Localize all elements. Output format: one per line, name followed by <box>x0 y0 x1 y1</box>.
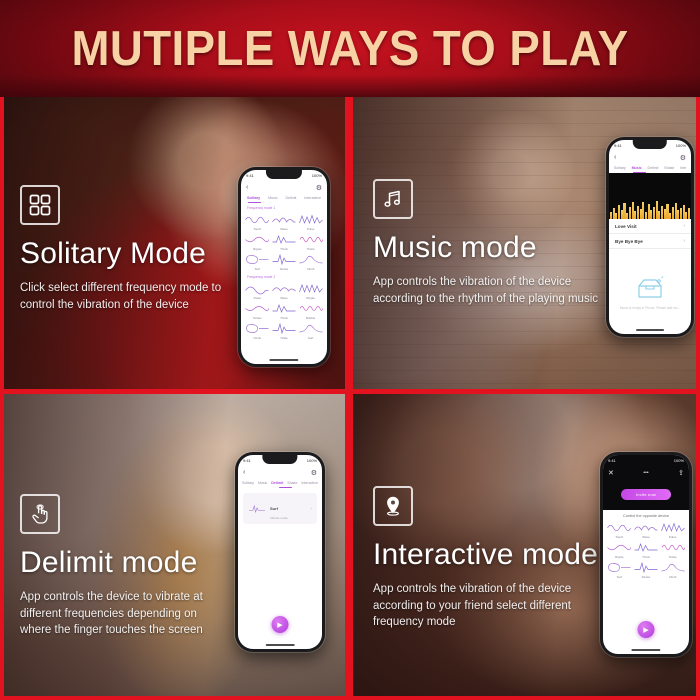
mode-caption: Throb <box>280 247 288 251</box>
mode-cell[interactable]: Throb <box>271 302 298 320</box>
chevron-right-icon: › <box>310 506 312 512</box>
mode-caption: Touch <box>253 227 261 231</box>
mode-caption: Pulse <box>254 296 262 300</box>
gear-icon[interactable]: ⚙ <box>311 469 317 477</box>
phone-solitary: 9:41 100% ‹ ⚙ Solitary Music Delimit Int… <box>238 167 330 367</box>
back-icon[interactable]: ‹ <box>243 469 245 476</box>
mode-cell[interactable]: Tickle <box>659 541 686 559</box>
phone-screen-interactive: 9:41 100% ✕ ••• ⇪ Invite now Control the… <box>603 455 689 654</box>
invite-now-button[interactable]: Invite now <box>621 489 671 500</box>
list-item-title: Surf <box>270 506 278 511</box>
mode-caption: Climb <box>307 267 315 271</box>
right-edge-border <box>696 97 700 700</box>
mode-cell[interactable]: Climb <box>659 561 686 579</box>
status-time: 9:41 <box>608 458 616 463</box>
mode-desc-solitary: Click select different frequency mode to… <box>20 280 225 313</box>
mode-caption: Climb <box>253 336 261 340</box>
song-row[interactable]: Bye Bye Bye › <box>609 234 691 249</box>
tab-interactive[interactable]: Interactive <box>301 481 318 485</box>
mode-caption: Climb <box>669 575 677 579</box>
tab-music[interactable]: Music <box>632 166 642 170</box>
mode-grid-1: Touch Wave Pulse Ripple Throb Tickle Sur… <box>241 212 327 272</box>
gear-icon[interactable]: ⚙ <box>680 154 686 162</box>
interactive-top-section: 9:41 100% ✕ ••• ⇪ Invite now <box>603 455 689 510</box>
tab-delimit[interactable]: Delimit <box>647 166 658 170</box>
tab-solitary[interactable]: Solitary <box>614 166 626 170</box>
mode-cell[interactable]: Climb <box>297 253 324 271</box>
tab-bar-delimit: Solitary Music Delimit Shake Interactive <box>238 479 322 488</box>
bottom-edge-border <box>0 696 700 700</box>
play-icon[interactable]: ▶ <box>272 616 289 633</box>
status-time: 9:41 <box>246 173 254 178</box>
tab-solitary[interactable]: Solitary <box>247 196 260 200</box>
status-time: 9:41 <box>614 143 622 148</box>
mode-caption: Pulse <box>307 227 315 231</box>
mode-cell[interactable]: Wave <box>271 213 298 231</box>
status-bar: 9:41 100% <box>238 455 322 466</box>
mode-caption: Pulse <box>669 535 677 539</box>
mode-caption: Throb <box>642 555 650 559</box>
mode-cell[interactable]: Ripple <box>606 541 633 559</box>
song-title: Love Visit <box>615 224 637 229</box>
mode-cell[interactable]: Throb <box>271 233 298 251</box>
list-item-subtitle: Vibrate mode <box>270 516 306 520</box>
tab-delimit[interactable]: Delimit <box>271 481 283 485</box>
tab-interactive[interactable]: Inte <box>680 166 686 170</box>
phone-nav-row: ‹ ⚙ <box>241 181 327 194</box>
music-note-icon <box>373 179 413 219</box>
header-banner: MUTIPLE WAYS TO PLAY <box>0 0 700 97</box>
mode-caption: Stroke <box>280 267 289 271</box>
mode-caption: Wave <box>280 227 288 231</box>
tab-music[interactable]: Music <box>258 481 267 485</box>
mode-caption: Surf <box>308 336 314 340</box>
phone-music: 9:41 100% ‹ ⚙ Solitary Music Delimit Sha… <box>606 137 694 337</box>
mode-cell[interactable]: Surf <box>244 253 271 271</box>
mode-cell[interactable]: Wave <box>271 282 298 300</box>
panel-interactive: Interactive mode App controls the vibrat… <box>353 394 700 700</box>
chevron-right-icon: › <box>683 238 685 244</box>
back-icon[interactable]: ‹ <box>614 154 616 161</box>
mode-caption: Ripple <box>253 247 262 251</box>
empty-box-icon <box>635 275 665 301</box>
empty-state-text: Music is empty in Phone. Please add mu..… <box>612 306 688 310</box>
mode-cell[interactable]: Stroke <box>244 302 271 320</box>
mode-cell[interactable]: Touch <box>606 521 633 539</box>
tab-delimit[interactable]: Delimit <box>285 196 296 200</box>
mode-caption: Stroke <box>253 316 262 320</box>
panel-solitary: Solitary Mode Click select different fre… <box>0 97 345 389</box>
spectrum-bars <box>609 173 691 219</box>
share-icon[interactable]: ⇪ <box>678 469 684 477</box>
mode-desc-music: App controls the vibration of the device… <box>373 274 598 307</box>
waveform-icon <box>248 504 266 514</box>
panel-grid: Solitary Mode Click select different fre… <box>0 97 700 700</box>
grid-2x2-icon <box>20 185 60 225</box>
mode-cell[interactable]: Stroke <box>271 253 298 271</box>
mode-cell[interactable]: Pulse <box>659 521 686 539</box>
location-pin-icon <box>373 486 413 526</box>
horizontal-divider <box>0 389 700 394</box>
tab-indicator <box>279 487 292 488</box>
status-bar: 9:41 100% <box>603 455 689 466</box>
song-row[interactable]: Love Visit › <box>609 219 691 234</box>
tab-shake[interactable]: Shake <box>664 166 674 170</box>
touch-hand-icon <box>20 494 60 534</box>
section-label-2: Frequency mode 2 <box>241 272 327 281</box>
mode-cell[interactable]: Pulse <box>244 282 271 300</box>
mode-caption: Ripple <box>615 555 624 559</box>
panel-music: Music mode App controls the vibration of… <box>353 97 700 389</box>
phone-screen-delimit: 9:41 100% ‹ ⚙ Solitary Music Delimit Sha… <box>238 455 322 649</box>
mode-caption: Tickle <box>669 555 677 559</box>
tab-indicator <box>248 202 261 203</box>
mode-caption: Tickle <box>280 336 288 340</box>
mode-cell[interactable]: Tickle <box>297 233 324 251</box>
mode-caption: Stroke <box>642 575 651 579</box>
list-item[interactable]: Surf Vibrate mode › <box>243 493 317 524</box>
status-battery: 100% <box>307 458 317 463</box>
phone-nav-row: ✕ ••• ⇪ <box>603 466 689 479</box>
tab-solitary[interactable]: Solitary <box>242 481 254 485</box>
home-indicator <box>266 644 295 646</box>
phone-interactive: 9:41 100% ✕ ••• ⇪ Invite now Control the… <box>600 452 692 657</box>
status-battery: 100% <box>312 173 322 178</box>
tab-interactive[interactable]: Interactive <box>304 196 321 200</box>
phone-nav-row: ‹ ⚙ <box>609 151 691 164</box>
status-bar: 9:41 100% <box>241 170 327 181</box>
vertical-divider <box>345 97 353 700</box>
home-indicator <box>269 359 298 361</box>
mode-cell[interactable]: Bubble <box>297 302 324 320</box>
song-title: Bye Bye Bye <box>615 239 643 244</box>
home-indicator <box>636 329 664 331</box>
mode-cell[interactable]: Stroke <box>633 561 660 579</box>
mode-grid-2: Pulse Wave Ripple Stroke Throb Bubble Cl… <box>241 281 327 341</box>
mode-caption: Throb <box>280 316 288 320</box>
mode-caption: Ripple <box>306 296 315 300</box>
tab-music[interactable]: Music <box>268 196 277 200</box>
mode-caption: Touch <box>615 535 623 539</box>
mode-cell[interactable]: Pulse <box>297 213 324 231</box>
tab-bar-solitary: Solitary Music Delimit Interactive <box>241 194 327 203</box>
home-indicator <box>631 649 660 651</box>
mode-caption: Wave <box>280 296 288 300</box>
list-item-text: Surf Vibrate mode <box>270 497 306 520</box>
mode-cell[interactable]: Tickle <box>271 322 298 340</box>
mode-desc-interactive: App controls the vibration of the device… <box>373 581 598 631</box>
close-icon[interactable]: ✕ <box>608 469 614 477</box>
phone-screen-music: 9:41 100% ‹ ⚙ Solitary Music Delimit Sha… <box>609 140 691 334</box>
mode-cell[interactable]: Climb <box>244 322 271 340</box>
tab-shake[interactable]: Shake <box>287 481 297 485</box>
mode-grid-interactive: Touch Wave Pulse Ripple Throb Tickle Sur… <box>603 520 689 580</box>
status-bar: 9:41 100% <box>609 140 691 151</box>
control-label: Control the opposite device <box>603 510 689 520</box>
phone-nav-row: ‹ ⚙ <box>238 466 322 479</box>
status-battery: 100% <box>676 143 686 148</box>
mode-caption: Bubble <box>306 316 315 320</box>
play-icon[interactable]: ▶ <box>638 621 655 638</box>
back-icon[interactable]: ‹ <box>246 184 248 191</box>
mode-cell[interactable]: Throb <box>633 541 660 559</box>
mode-caption: Surf <box>255 267 261 271</box>
empty-state: Music is empty in Phone. Please add mu..… <box>609 249 691 310</box>
mode-cell[interactable]: Touch <box>244 213 271 231</box>
left-edge-border <box>0 97 4 700</box>
status-battery: 100% <box>674 458 684 463</box>
mode-cell[interactable]: Ripple <box>244 233 271 251</box>
mode-caption: Tickle <box>307 247 315 251</box>
mode-caption: Wave <box>642 535 650 539</box>
mode-desc-delimit: App controls the device to vibrate at di… <box>20 589 225 639</box>
phone-screen-solitary: 9:41 100% ‹ ⚙ Solitary Music Delimit Int… <box>241 170 327 364</box>
tab-bar-music: Solitary Music Delimit Shake Inte <box>609 164 691 173</box>
chevron-right-icon: › <box>683 223 685 229</box>
section-label-1: Frequency mode 1 <box>241 203 327 212</box>
gear-icon[interactable]: ⚙ <box>316 184 322 192</box>
status-time: 9:41 <box>243 458 251 463</box>
promo-graphic: MUTIPLE WAYS TO PLAY Solitary Mode Click… <box>0 0 700 700</box>
panel-delimit: Delimit mode App controls the device to … <box>0 394 345 700</box>
mode-cell[interactable]: Surf <box>606 561 633 579</box>
phone-delimit: 9:41 100% ‹ ⚙ Solitary Music Delimit Sha… <box>235 452 325 652</box>
title-dots: ••• <box>643 470 648 476</box>
page-title: MUTIPLE WAYS TO PLAY <box>25 0 676 97</box>
mode-cell[interactable]: Surf <box>297 322 324 340</box>
audio-spectrum <box>609 173 691 219</box>
mode-cell[interactable]: Wave <box>633 521 660 539</box>
mode-cell[interactable]: Ripple <box>297 282 324 300</box>
mode-caption: Surf <box>617 575 623 579</box>
